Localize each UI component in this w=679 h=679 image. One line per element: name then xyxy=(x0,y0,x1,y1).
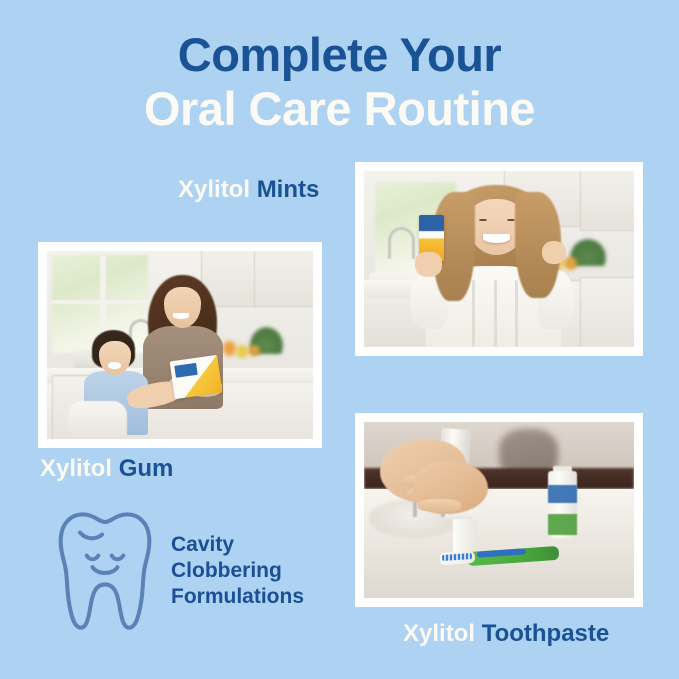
kitchen-faucet-icon xyxy=(388,227,415,259)
product-photo-gum[interactable] xyxy=(38,242,322,448)
sweater-texture xyxy=(494,280,497,347)
badge-text: Cavity Clobbering Formulations xyxy=(171,532,304,610)
page-title: Complete Your Oral Care Routine xyxy=(0,28,679,136)
girl-hand-left xyxy=(415,252,442,277)
badge-line-2: Clobbering xyxy=(171,558,304,584)
kitchen-cabinet xyxy=(254,251,313,307)
product-label-gum-name: Gum xyxy=(119,455,174,482)
kitchen-fruit xyxy=(564,257,578,269)
product-label-mints: Xylitol Mints xyxy=(178,176,319,204)
page-title-line-2: Oral Care Routine xyxy=(0,82,679,136)
kitchen-fruit xyxy=(223,341,236,356)
finger xyxy=(418,499,461,511)
product-photo-toothpaste[interactable] xyxy=(355,413,643,607)
promo-banner: Complete Your Oral Care Routine Xylitol … xyxy=(0,0,679,679)
photo-gum-image xyxy=(47,251,313,439)
mouthwash-label xyxy=(548,485,578,503)
product-photo-mints[interactable] xyxy=(355,162,643,356)
window-frame xyxy=(52,300,148,304)
product-label-gum-brand: Xylitol xyxy=(40,455,119,482)
page-title-line-1: Complete Your xyxy=(0,28,679,82)
product-label-gum: Xylitol Gum xyxy=(40,455,173,483)
toothpaste-neck xyxy=(453,519,477,554)
cavity-clobbering-badge: Cavity Clobbering Formulations xyxy=(57,505,327,637)
badge-line-1: Cavity xyxy=(171,532,304,558)
kitchen-cabinet xyxy=(580,277,634,347)
product-label-mints-name: Mints xyxy=(257,176,320,203)
kitchen-cabinet xyxy=(580,171,634,231)
mother-smile xyxy=(173,313,189,319)
photo-toothpaste-image xyxy=(364,422,634,598)
photo-mints-image xyxy=(364,171,634,347)
mouthwash-label xyxy=(548,514,578,535)
product-label-toothpaste-brand: Xylitol xyxy=(403,620,482,647)
sweater-texture xyxy=(515,280,518,347)
badge-line-3: Formulations xyxy=(171,584,304,610)
kitchen-fruit xyxy=(249,345,260,356)
kitchen-stool xyxy=(68,401,127,439)
product-label-toothpaste: Xylitol Toothpaste xyxy=(403,620,609,648)
gum-package xyxy=(170,355,223,399)
girl-hand-right xyxy=(542,241,566,264)
sweater-texture xyxy=(472,280,475,347)
product-label-mints-brand: Xylitol xyxy=(178,176,257,203)
smiling-tooth-icon xyxy=(57,508,153,634)
product-label-toothpaste-name: Toothpaste xyxy=(482,620,610,647)
gum-package-label xyxy=(174,363,197,378)
